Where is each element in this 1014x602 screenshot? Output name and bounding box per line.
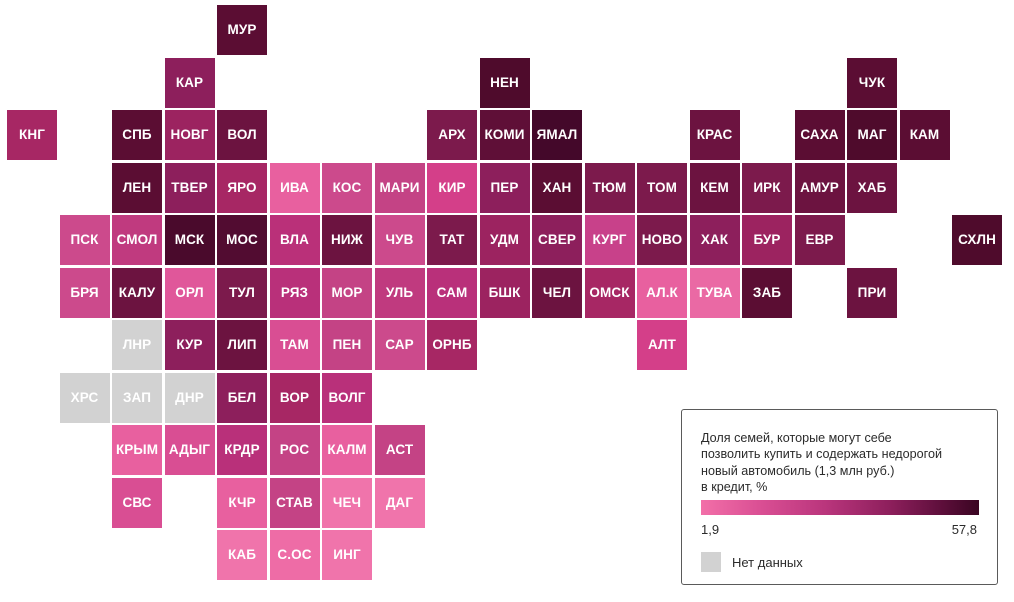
region-tile[interactable]: АМУР xyxy=(795,163,845,213)
region-tile-label: ПЕН xyxy=(333,338,362,352)
region-tile-label: ТАМ xyxy=(280,338,309,352)
region-tile-label: СПБ xyxy=(122,128,151,142)
region-tile-label: КАР xyxy=(176,76,203,90)
region-tile-label: КОС xyxy=(333,181,362,195)
region-tile-label: ХАН xyxy=(543,181,572,195)
region-tile-label: АРХ xyxy=(438,128,466,142)
region-tile[interactable]: АЛТ xyxy=(637,320,687,370)
region-tile-label: ЧЕЧ xyxy=(333,496,361,510)
region-tile[interactable]: ЗАП xyxy=(112,373,162,423)
region-tile-label: МСК xyxy=(175,233,205,247)
region-tile[interactable]: КАЛМ xyxy=(322,425,372,475)
region-tile[interactable]: СМОЛ xyxy=(112,215,162,265)
region-tile-label: ЗАП xyxy=(123,391,151,405)
region-tile-label: ТУВА xyxy=(697,286,733,300)
region-tile[interactable]: СВЕР xyxy=(532,215,582,265)
region-tile-label: ИРК xyxy=(753,181,780,195)
region-tile[interactable]: ТОМ xyxy=(637,163,687,213)
region-tile-label: ПСК xyxy=(71,233,99,247)
region-tile[interactable]: ИРК xyxy=(742,163,792,213)
region-tile[interactable]: КОМИ xyxy=(480,110,530,160)
region-tile-label: МОР xyxy=(331,286,362,300)
region-tile-label: КИР xyxy=(438,181,465,195)
region-tile[interactable]: ПЕН xyxy=(322,320,372,370)
region-tile[interactable]: ПРИ xyxy=(847,268,897,318)
region-tile-label: РЯЗ xyxy=(281,286,308,300)
region-tile[interactable]: НОВО xyxy=(637,215,687,265)
region-tile[interactable]: ВОЛГ xyxy=(322,373,372,423)
region-tile[interactable]: КЧР xyxy=(217,478,267,528)
region-tile[interactable]: ЯРО xyxy=(217,163,267,213)
region-tile-label: ВОЛ xyxy=(227,128,256,142)
region-tile-label: КЕМ xyxy=(700,181,729,195)
region-tile-label: ХАК xyxy=(701,233,728,247)
scale-min-label: 1,9 xyxy=(701,522,719,537)
region-tile-label: КРЫМ xyxy=(116,443,158,457)
region-tile[interactable]: РЯЗ xyxy=(270,268,320,318)
region-tile[interactable]: ТУЛ xyxy=(217,268,267,318)
region-tile[interactable]: МАРИ xyxy=(375,163,425,213)
region-tile-label: БУР xyxy=(753,233,780,247)
region-tile[interactable]: ХАБ xyxy=(847,163,897,213)
region-tile[interactable]: СХЛН xyxy=(952,215,1002,265)
region-tile-label: СВС xyxy=(122,496,151,510)
region-tile-label: ЕВР xyxy=(805,233,833,247)
region-tile[interactable]: ОМСК xyxy=(585,268,635,318)
region-tile-label: ВОЛГ xyxy=(328,391,365,405)
region-tile[interactable]: ЛИП xyxy=(217,320,267,370)
region-tile-label: БЕЛ xyxy=(228,391,256,405)
region-tile-label: ЛНР xyxy=(123,338,152,352)
legend-title-line-1: позволить купить и содержать недорогой xyxy=(701,446,986,462)
region-tile-label: САМ xyxy=(437,286,468,300)
region-tile-label: ЯРО xyxy=(227,181,256,195)
region-tile-label: УДМ xyxy=(490,233,519,247)
region-tile-label: МУР xyxy=(228,23,257,37)
region-tile[interactable]: УДМ xyxy=(480,215,530,265)
region-tile[interactable]: ДАГ xyxy=(375,478,425,528)
region-tile[interactable]: ПЕР xyxy=(480,163,530,213)
region-tile-label: РОС xyxy=(280,443,309,457)
region-tile-label: КНГ xyxy=(19,128,45,142)
scale-max-label: 57,8 xyxy=(952,522,977,537)
region-tile-label: ХРС xyxy=(71,391,99,405)
region-tile[interactable]: КАЛУ xyxy=(112,268,162,318)
region-tile[interactable]: НИЖ xyxy=(322,215,372,265)
region-tile-label: СТАВ xyxy=(276,496,313,510)
nodata-label: Нет данных xyxy=(732,555,803,570)
region-tile[interactable]: КУРГ xyxy=(585,215,635,265)
region-tile[interactable]: АРХ xyxy=(427,110,477,160)
region-tile[interactable]: КРЫМ xyxy=(112,425,162,475)
region-tile-label: ВОР xyxy=(280,391,309,405)
region-tile[interactable]: ВЛА xyxy=(270,215,320,265)
region-tile-label: ЧУК xyxy=(859,76,885,90)
region-tile[interactable]: МАГ xyxy=(847,110,897,160)
region-tile-label: НИЖ xyxy=(331,233,363,247)
region-tile[interactable]: ЧЕЧ xyxy=(322,478,372,528)
region-tile[interactable]: ВОЛ xyxy=(217,110,267,160)
region-tile-label: КАБ xyxy=(228,548,256,562)
nodata-legend-row: Нет данных xyxy=(701,552,803,572)
region-tile[interactable]: ПСК xyxy=(60,215,110,265)
region-tile-label: ПРИ xyxy=(858,286,887,300)
region-tile[interactable]: ХАН xyxy=(532,163,582,213)
region-tile[interactable]: ТУВА xyxy=(690,268,740,318)
region-tile[interactable]: С.ОС xyxy=(270,530,320,580)
nodata-swatch xyxy=(701,552,721,572)
region-tile[interactable]: СВС xyxy=(112,478,162,528)
region-tile[interactable]: БРЯ xyxy=(60,268,110,318)
region-tile[interactable]: КНГ xyxy=(7,110,57,160)
region-tile-label: ОМСК xyxy=(589,286,629,300)
region-tile-label: КУР xyxy=(176,338,202,352)
region-tile[interactable]: МОС xyxy=(217,215,267,265)
region-tile-label: КРДР xyxy=(224,443,259,457)
region-tile[interactable]: МОР xyxy=(322,268,372,318)
region-tile[interactable]: СТАВ xyxy=(270,478,320,528)
region-tile[interactable]: АЛ.К xyxy=(637,268,687,318)
region-tile-label: ТЮМ xyxy=(593,181,627,195)
region-tile[interactable]: КЕМ xyxy=(690,163,740,213)
legend-title-line-2: новый автомобиль (1,3 млн руб.) xyxy=(701,463,986,479)
region-tile-label: БШК xyxy=(489,286,521,300)
region-tile-label: ЛИП xyxy=(227,338,256,352)
region-tile[interactable]: ТАМ xyxy=(270,320,320,370)
region-tile[interactable]: САХА xyxy=(795,110,845,160)
region-tile-label: НЕН xyxy=(490,76,519,90)
region-tile-label: СМОЛ xyxy=(117,233,158,247)
region-tile-label: ЧЕЛ xyxy=(543,286,571,300)
region-tile-label: СВЕР xyxy=(538,233,576,247)
region-tile[interactable]: САР xyxy=(375,320,425,370)
region-tile[interactable]: ОРНБ xyxy=(427,320,477,370)
region-tile[interactable]: КОС xyxy=(322,163,372,213)
region-tile-label: С.ОС xyxy=(277,548,311,562)
region-tile-label: САХА xyxy=(800,128,838,142)
region-tile[interactable]: ТЮМ xyxy=(585,163,635,213)
region-tile[interactable]: ЧЕЛ xyxy=(532,268,582,318)
region-tile[interactable]: МСК xyxy=(165,215,215,265)
region-tile-label: АМУР xyxy=(800,181,839,195)
region-tile-label: КОМИ xyxy=(484,128,524,142)
region-tile-label: ИВА xyxy=(280,181,309,195)
region-tile[interactable]: КАР xyxy=(165,58,215,108)
region-tile-label: БРЯ xyxy=(70,286,98,300)
region-tile-label: СХЛН xyxy=(958,233,996,247)
region-tile-label: МОС xyxy=(226,233,258,247)
region-tile-label: АЛТ xyxy=(648,338,676,352)
region-tile[interactable]: АДЫГ xyxy=(165,425,215,475)
region-tile-label: ОРЛ xyxy=(175,286,203,300)
region-tile-label: ЯМАЛ xyxy=(537,128,578,142)
region-tile-label: ВЛА xyxy=(280,233,309,247)
region-tile[interactable]: КИР xyxy=(427,163,477,213)
region-tile[interactable]: БШК xyxy=(480,268,530,318)
region-tile-label: ДНР xyxy=(175,391,204,405)
region-tile[interactable]: ИНГ xyxy=(322,530,372,580)
region-tile[interactable]: НЕН xyxy=(480,58,530,108)
region-tile-label: КАМ xyxy=(910,128,940,142)
region-tile-label: ТВЕР xyxy=(171,181,207,195)
region-tile[interactable]: АСТ xyxy=(375,425,425,475)
region-tile-label: НОВГ xyxy=(170,128,208,142)
region-tile[interactable]: КРДР xyxy=(217,425,267,475)
region-tile[interactable]: КАМ xyxy=(900,110,950,160)
region-tile[interactable]: ЯМАЛ xyxy=(532,110,582,160)
region-tile[interactable]: НОВГ xyxy=(165,110,215,160)
region-tile[interactable]: ЧУВ xyxy=(375,215,425,265)
region-tile[interactable]: САМ xyxy=(427,268,477,318)
region-tile[interactable]: КРАС xyxy=(690,110,740,160)
region-tile[interactable]: ТВЕР xyxy=(165,163,215,213)
region-tile-label: КРАС xyxy=(697,128,733,142)
region-tile-label: АСТ xyxy=(386,443,413,457)
region-tile[interactable]: ОРЛ xyxy=(165,268,215,318)
region-tile[interactable]: КАБ xyxy=(217,530,267,580)
region-tile-label: УЛЬ xyxy=(386,286,413,300)
region-tile[interactable]: ЛЕН xyxy=(112,163,162,213)
region-tile[interactable]: ВОР xyxy=(270,373,320,423)
region-tile-label: ОРНБ xyxy=(432,338,471,352)
region-tile-label: САР xyxy=(385,338,413,352)
region-tile-label: ПЕР xyxy=(490,181,518,195)
region-tile-label: АДЫГ xyxy=(169,443,210,457)
region-tile-label: ТОМ xyxy=(647,181,677,195)
region-tile-label: ТУЛ xyxy=(229,286,255,300)
region-tile-label: ДАГ xyxy=(386,496,413,510)
region-tile[interactable]: ЛНР xyxy=(112,320,162,370)
region-tile-label: КЧР xyxy=(228,496,255,510)
legend-title-line-0: Доля семей, которые могут себе xyxy=(701,430,986,446)
region-tile[interactable]: ИВА xyxy=(270,163,320,213)
region-tile[interactable]: ЧУК xyxy=(847,58,897,108)
region-tile-label: КАЛУ xyxy=(119,286,155,300)
region-tile[interactable]: ЕВР xyxy=(795,215,845,265)
region-tile-label: ХАБ xyxy=(858,181,887,195)
region-tile-label: КУРГ xyxy=(592,233,626,247)
region-tile[interactable]: СПБ xyxy=(112,110,162,160)
region-tile[interactable]: ЗАБ xyxy=(742,268,792,318)
region-tile[interactable]: БЕЛ xyxy=(217,373,267,423)
legend-title: Доля семей, которые могут себепозволить … xyxy=(701,430,986,495)
region-tile[interactable]: РОС xyxy=(270,425,320,475)
region-tile[interactable]: ХРС xyxy=(60,373,110,423)
region-tile-label: МАРИ xyxy=(379,181,419,195)
region-tile-label: ЗАБ xyxy=(753,286,781,300)
region-tile-label: КАЛМ xyxy=(327,443,366,457)
region-tile[interactable]: ХАК xyxy=(690,215,740,265)
color-scale-gradient-bar xyxy=(701,500,979,515)
region-tile[interactable]: ДНР xyxy=(165,373,215,423)
region-tile[interactable]: МУР xyxy=(217,5,267,55)
region-tile[interactable]: ТАТ xyxy=(427,215,477,265)
region-tile-label: АЛ.К xyxy=(646,286,678,300)
region-tile[interactable]: УЛЬ xyxy=(375,268,425,318)
region-tile-label: НОВО xyxy=(642,233,683,247)
legend-title-line-3: в кредит, % xyxy=(701,479,986,495)
region-tile-label: ЧУВ xyxy=(386,233,414,247)
region-tile-label: ИНГ xyxy=(333,548,360,562)
region-tile-label: МАГ xyxy=(858,128,887,142)
region-tile-label: ТАТ xyxy=(439,233,464,247)
region-tile-label: ЛЕН xyxy=(123,181,152,195)
legend-panel: Доля семей, которые могут себепозволить … xyxy=(681,409,998,585)
region-tile[interactable]: КУР xyxy=(165,320,215,370)
region-tile[interactable]: БУР xyxy=(742,215,792,265)
